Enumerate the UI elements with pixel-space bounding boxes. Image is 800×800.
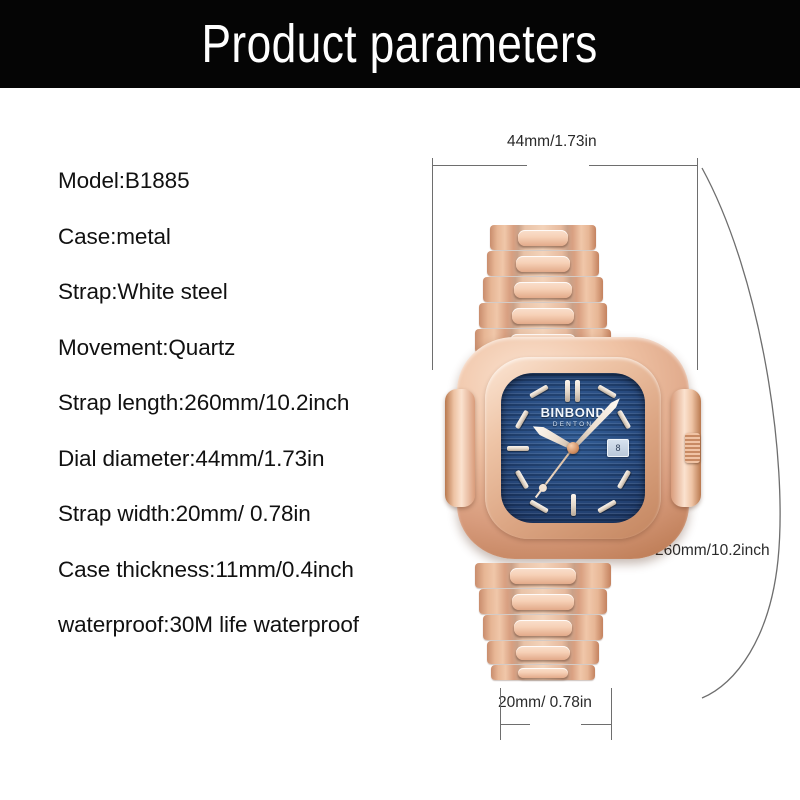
spec-item-movement: Movement:Quartz: [58, 337, 458, 360]
hour-marker-11: [529, 384, 549, 398]
spec-item-case: Case:metal: [58, 226, 458, 249]
bracelet-link-top-4: [479, 303, 607, 328]
watch-bezel: BINBOND DENTON 8: [485, 357, 661, 539]
dimension-rule-top-left: [432, 165, 527, 166]
hour-marker-8: [515, 470, 529, 490]
header-banner: Product parameters: [0, 0, 800, 88]
bracelet-link-pad: [518, 230, 569, 246]
watch-crown: [685, 433, 700, 463]
dimension-label-strap-width: 20mm/ 0.78in: [498, 694, 592, 712]
bracelet-link-top-1: [490, 225, 596, 250]
product-parameters-page: Product parameters Model:B1885 Case:meta…: [0, 0, 800, 800]
bracelet-link-pad: [514, 620, 572, 636]
watch-case: BINBOND DENTON 8: [457, 337, 689, 559]
watch-dial: BINBOND DENTON 8: [501, 373, 645, 523]
bracelet-link-pad: [518, 668, 568, 678]
hands-center-pin: [567, 442, 579, 454]
dimension-rule-top-right: [589, 165, 697, 166]
watch-product-image: BINBOND DENTON 8: [430, 225, 715, 680]
hour-marker-9: [507, 446, 529, 451]
page-title: Product parameters: [202, 13, 598, 75]
second-hand: [535, 447, 574, 498]
spec-item-case-thickness: Case thickness:11mm/0.4inch: [58, 559, 458, 582]
dimension-rule-bottom-left: [500, 724, 530, 725]
bracelet-link-pad: [516, 256, 570, 272]
bracelet-link-pad: [510, 568, 575, 584]
bracelet-link-bottom-3: [483, 615, 603, 640]
hour-marker-7: [529, 499, 549, 513]
spec-list: Model:B1885 Case:metal Strap:White steel…: [58, 170, 458, 637]
spec-item-waterproof: waterproof:30M life waterproof: [58, 614, 458, 637]
hour-marker-6: [571, 494, 576, 516]
bracelet-link-pad: [512, 308, 573, 324]
bracelet-link-bottom-1: [475, 563, 611, 588]
dial-branding: BINBOND DENTON: [501, 405, 645, 428]
hour-marker-12: [565, 380, 570, 402]
bracelet-link-pad: [514, 282, 572, 298]
brand-sub-name: DENTON: [501, 421, 645, 428]
dimension-tick-bottom-right: [611, 688, 612, 740]
case-ear-left: [445, 389, 475, 507]
bracelet-link-bottom-4: [487, 641, 599, 664]
bracelet-link-pad: [512, 594, 573, 610]
date-window: 8: [607, 439, 629, 457]
dimension-label-dial-diameter: 44mm/1.73in: [507, 133, 597, 151]
dimension-rule-bottom-right: [581, 724, 611, 725]
hour-marker-5: [597, 499, 617, 513]
hour-marker-12b: [575, 380, 580, 402]
dimension-tick-bottom-left: [500, 688, 501, 740]
bracelet-link-bottom-2: [479, 589, 607, 614]
bracelet-link-top-3: [483, 277, 603, 302]
spec-item-strap-width: Strap width:20mm/ 0.78in: [58, 503, 458, 526]
hour-marker-4: [617, 470, 631, 490]
spec-item-strap: Strap:White steel: [58, 281, 458, 304]
bracelet-link-bottom-5: [491, 665, 595, 680]
brand-name: BINBOND: [501, 405, 645, 420]
spec-item-dial-diameter: Dial diameter:44mm/1.73in: [58, 448, 458, 471]
spec-item-model: Model:B1885: [58, 170, 458, 193]
hour-marker-1: [597, 384, 617, 398]
bracelet-link-pad: [516, 646, 570, 661]
bracelet-link-top-2: [487, 251, 599, 276]
spec-item-strap-length: Strap length:260mm/10.2inch: [58, 392, 458, 415]
